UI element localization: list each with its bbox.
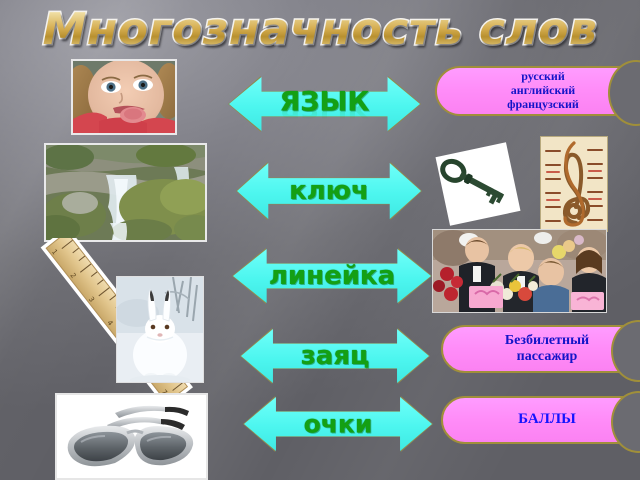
photo-spring-waterfall (44, 143, 207, 242)
photo-treble-clef (540, 136, 608, 232)
word-label-klyuch: ключ (236, 176, 422, 206)
callout-line: пассажир (505, 349, 589, 365)
word-arrow-lineyka[interactable]: линейка (232, 248, 432, 304)
word-arrow-klyuch[interactable]: ключ (236, 162, 422, 220)
callout-line: русский (507, 70, 579, 84)
word-label-ochki: очки (243, 410, 433, 439)
photo-antique-key (434, 141, 522, 228)
word-arrow-zayats[interactable]: заяц (240, 328, 430, 384)
photo-school-assembly-children (432, 229, 607, 313)
callout-line: английский (507, 84, 579, 98)
word-arrow-ochki[interactable]: очки (243, 396, 433, 452)
photo-white-hare-in-snow (116, 276, 204, 383)
word-label-lineyka: линейка (232, 261, 432, 291)
callout-stowaway-text: Безбилетный пассажир (501, 333, 593, 365)
word-arrow-yazyk[interactable]: ЯЗЫК ЯЗЫК (228, 76, 421, 132)
slide-title-outline: Многозначность слов (0, 2, 640, 58)
callout-line: Безбилетный (505, 333, 589, 349)
photo-sunglasses (55, 393, 208, 480)
photo-girl-sticking-out-tongue (71, 59, 177, 135)
callout-languages-text: русский английский французский (503, 70, 583, 111)
callout-line: французский (507, 98, 579, 112)
slide-canvas: Многозначность слов Многозначность слов (0, 0, 640, 480)
callout-points-text: БАЛЛЫ (514, 411, 580, 428)
word-label-yazyk: ЯЗЫК (228, 87, 421, 118)
callout-line: БАЛЛЫ (518, 411, 576, 428)
word-label-zayats: заяц (240, 341, 430, 371)
